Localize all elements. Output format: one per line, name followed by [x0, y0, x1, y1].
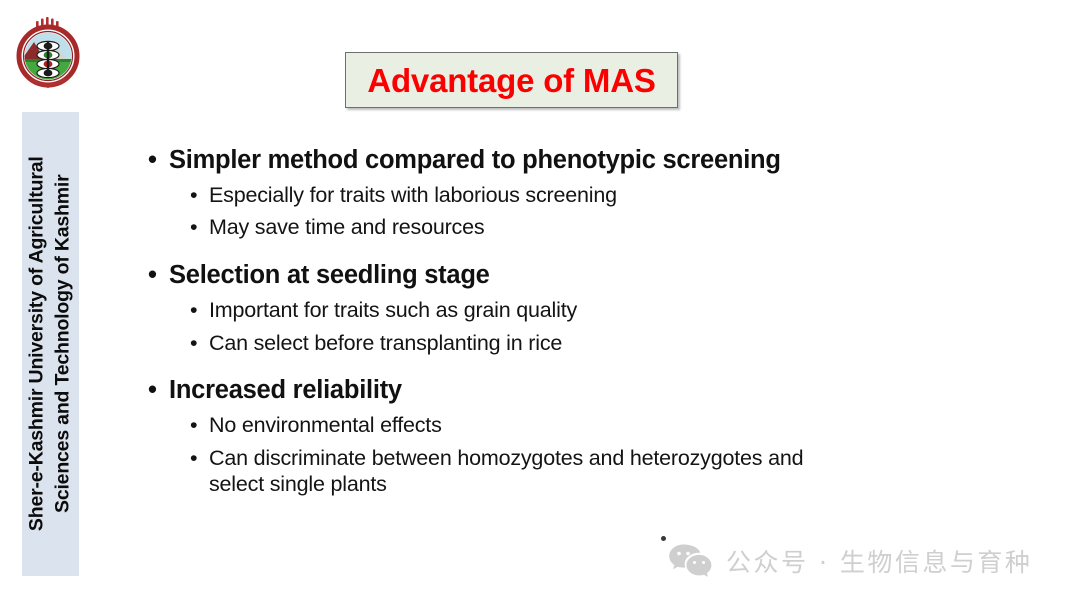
watermark-text: 公众号 · 生物信息与育种 — [726, 543, 1032, 579]
university-crest-icon — [12, 14, 84, 90]
bullet-marker-icon: • — [190, 298, 197, 324]
bullet-level2-text: Important for traits such as grain quali… — [209, 298, 809, 324]
page-title: Advantage of MAS — [367, 64, 655, 97]
slide-canvas: Sher-e-Kashmir University of Agricultura… — [0, 0, 1080, 608]
bullet-level1: • Increased reliability — [143, 376, 913, 406]
watermark-dot — [661, 536, 666, 541]
bullet-level1: • Simpler method compared to phenotypic … — [143, 146, 913, 176]
bullet-group-2: • Selection at seedling stage • Importan… — [143, 261, 913, 356]
bullet-marker-icon: • — [190, 413, 197, 439]
bullet-marker-icon: • — [190, 183, 197, 209]
bullet-level1-text: Selection at seedling stage — [169, 261, 809, 291]
bullet-marker-icon: • — [148, 146, 157, 176]
bullet-level2: • Can discriminate between homozygotes a… — [143, 446, 913, 498]
sidebar-name-line-1: Sher-e-Kashmir University of Agricultura… — [25, 157, 51, 532]
bullet-marker-icon: • — [190, 215, 197, 241]
bullet-level1: • Selection at seedling stage — [143, 261, 913, 291]
watermark: 公众号 · 生物信息与育种 — [668, 543, 1032, 579]
bullet-marker-icon: • — [148, 261, 157, 291]
wechat-bubbles-icon — [668, 543, 714, 579]
bullet-level1-text: Simpler method compared to phenotypic sc… — [169, 146, 809, 176]
bullet-level2: • May save time and resources — [143, 215, 913, 241]
bullet-group-3: • Increased reliability • No environment… — [143, 376, 913, 497]
sidebar-name-line-2: Sciences and Technology of Kashmir — [51, 157, 77, 532]
bullet-level2-text: Can select before transplanting in rice — [209, 331, 809, 357]
bullet-level2-text: May save time and resources — [209, 215, 809, 241]
slide-title-box: Advantage of MAS — [345, 52, 678, 108]
bullet-level2: • No environmental effects — [143, 413, 913, 439]
bullet-level1-text: Increased reliability — [169, 376, 809, 406]
slide-body: • Simpler method compared to phenotypic … — [143, 146, 913, 500]
bullet-level2-text: Especially for traits with laborious scr… — [209, 183, 809, 209]
bullet-level2: • Especially for traits with laborious s… — [143, 183, 913, 209]
bullet-marker-icon: • — [190, 331, 197, 357]
bullet-level2: • Important for traits such as grain qua… — [143, 298, 913, 324]
bullet-marker-icon: • — [148, 376, 157, 406]
bullet-group-1: • Simpler method compared to phenotypic … — [143, 146, 913, 241]
bullet-marker-icon: • — [190, 446, 197, 472]
bullet-level2: • Can select before transplanting in ric… — [143, 331, 913, 357]
university-name-sidebar: Sher-e-Kashmir University of Agricultura… — [22, 112, 79, 576]
bullet-level2-text: Can discriminate between homozygotes and… — [209, 446, 809, 498]
bullet-level2-text: No environmental effects — [209, 413, 809, 439]
